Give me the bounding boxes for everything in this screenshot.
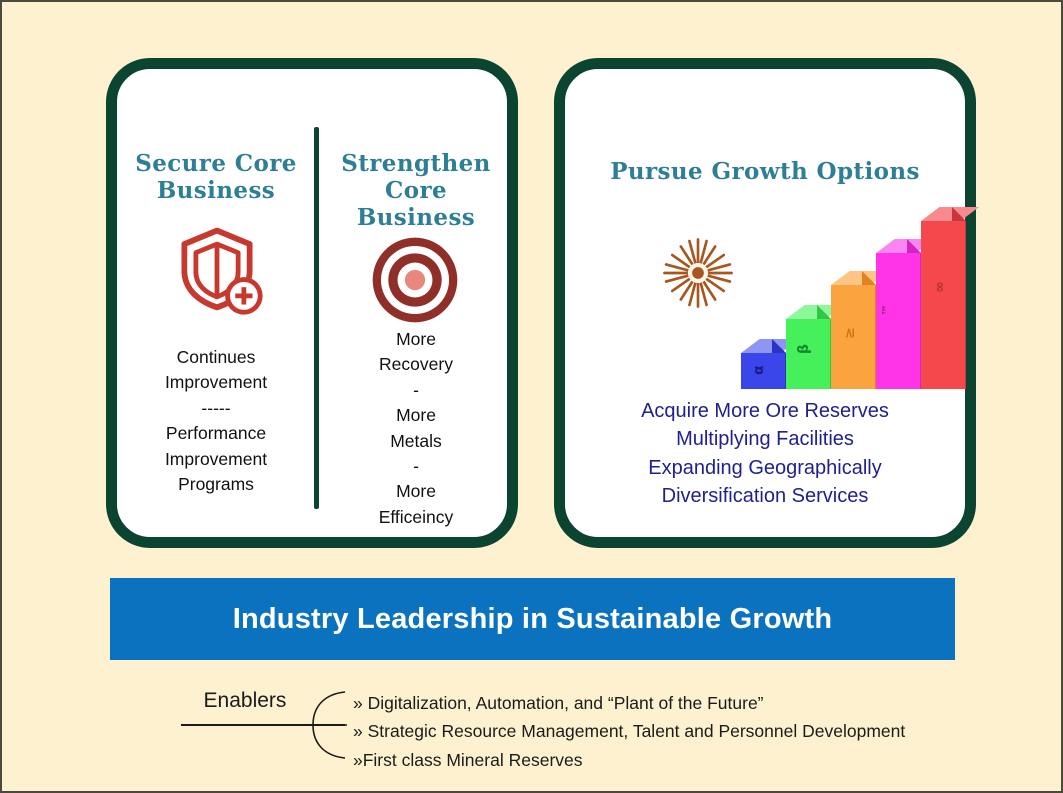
target-icon — [369, 234, 461, 326]
bar-label: ∞ — [932, 281, 948, 293]
bar-front-face — [921, 221, 965, 389]
growth-bar-chart: α β ≥ ™ — [653, 214, 953, 389]
secure-strengthen-card: Secure Core Business Continues Improveme… — [106, 58, 518, 548]
pursue-growth-card: Pursue Growth Options — [554, 58, 976, 548]
slide-canvas: Secure Core Business Continues Improveme… — [0, 0, 1063, 793]
sun-burst-icon — [659, 234, 737, 312]
chart-bar: ≥ — [831, 285, 875, 389]
secure-core-business-body: Continues Improvement ----- Performance … — [123, 345, 309, 497]
chart-bar: ™ — [876, 253, 920, 389]
brace-icon — [307, 686, 347, 764]
industry-leadership-banner: Industry Leadership in Sustainable Growt… — [110, 578, 955, 660]
bar-label: ™ — [880, 304, 894, 316]
chart-bar: α — [741, 353, 785, 389]
chart-bar: β — [786, 319, 830, 389]
growth-options-list: Acquire More Ore Reserves Multiplying Fa… — [575, 397, 955, 511]
bar-top-face — [921, 207, 979, 221]
bar-front-face — [876, 253, 920, 389]
bar-label: α — [751, 365, 767, 375]
enablers-list: » Digitalization, Automation, and “Plant… — [353, 689, 1043, 774]
bar-label: β — [796, 344, 812, 354]
enablers-label: Enablers — [180, 689, 310, 713]
pursue-growth-options-heading: Pursue Growth Options — [605, 159, 925, 186]
bar-label: ≥ — [842, 327, 858, 339]
shield-plus-icon — [169, 221, 265, 317]
column-divider — [314, 127, 319, 509]
strengthen-core-business-body: More Recovery - More Metals - More Effic… — [323, 327, 509, 530]
secure-core-business-heading: Secure Core Business — [123, 151, 309, 205]
banner-text: Industry Leadership in Sustainable Growt… — [233, 603, 833, 636]
chart-bar: ∞ — [921, 221, 965, 389]
strengthen-core-business-heading: Strengthen Core Business — [323, 151, 509, 232]
